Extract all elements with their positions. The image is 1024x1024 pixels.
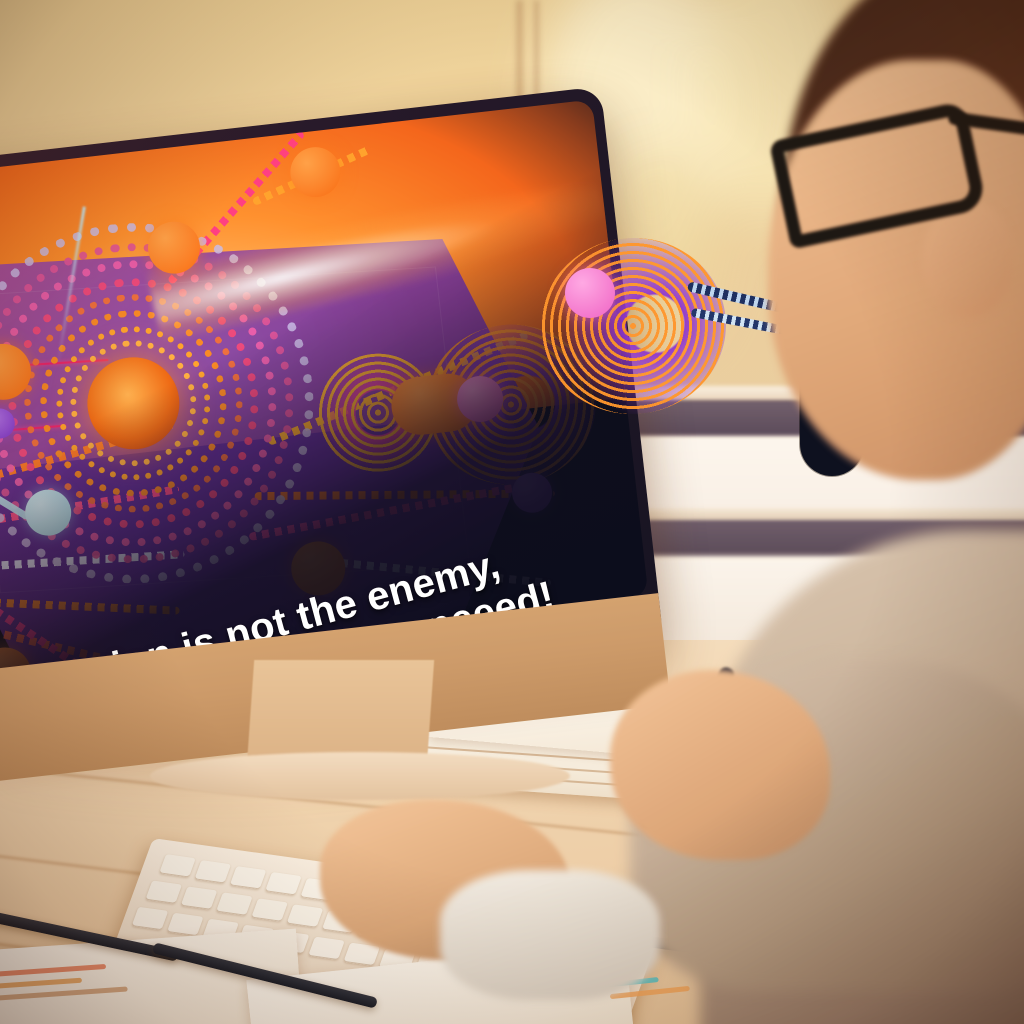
screenshot-root: Automaation is not the enemy, it's the t… bbox=[0, 0, 1024, 1024]
monitor-stand-foot bbox=[150, 752, 570, 800]
monitor[interactable]: Automaation is not the enemy, it's the t… bbox=[0, 86, 664, 728]
monitor-screen[interactable]: Automaation is not the enemy, it's the t… bbox=[0, 99, 649, 680]
node-pink-overflow bbox=[565, 268, 615, 318]
person bbox=[690, 0, 1024, 1024]
shirt-cuff bbox=[440, 870, 660, 1000]
